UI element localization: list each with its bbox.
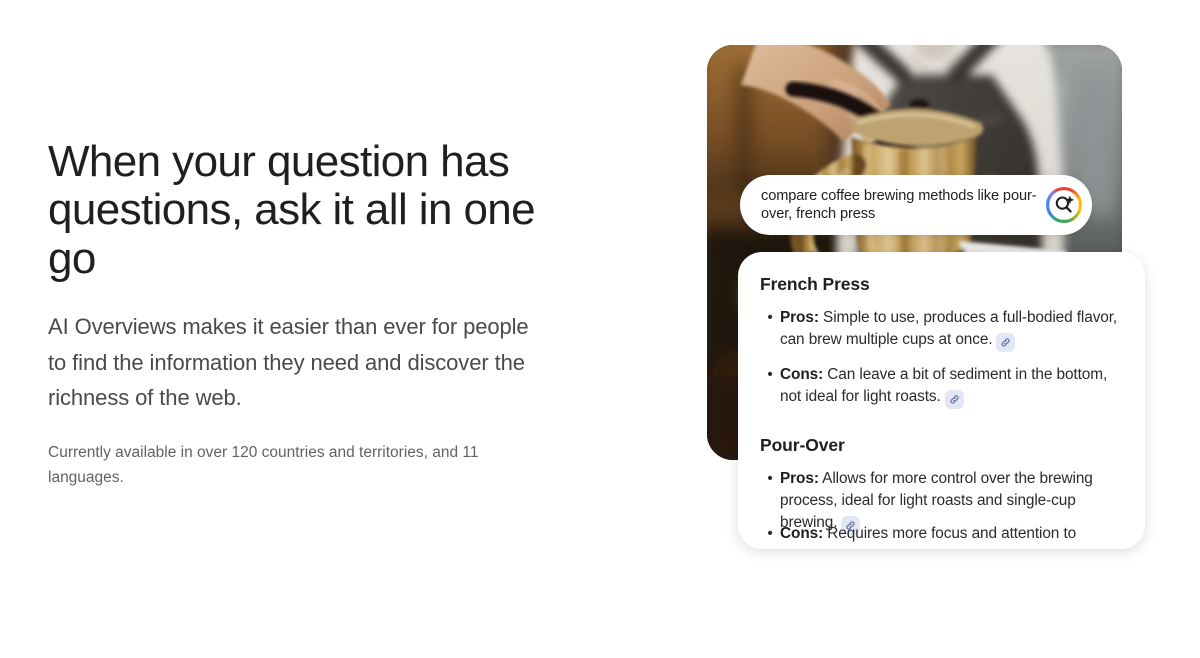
- link-chain-icon[interactable]: [996, 333, 1015, 352]
- bullet-text: Can leave a bit of sediment in the botto…: [780, 366, 1107, 405]
- result-section-title: Pour-Over: [760, 435, 1123, 457]
- bullet-lead-label: Cons:: [780, 525, 823, 542]
- ai-mode-search-sparkle-icon[interactable]: [1044, 185, 1084, 225]
- bullet-dot-icon: •: [760, 307, 780, 352]
- search-query-bubble[interactable]: compare coffee brewing methods like pour…: [740, 175, 1092, 235]
- marketing-copy-block: When your question has questions, ask it…: [48, 138, 608, 490]
- list-item: • Cons: Requires more focus and attentio…: [760, 523, 1123, 545]
- subheadline-text: AI Overviews makes it easier than ever f…: [48, 309, 548, 416]
- result-bullet-list: • Pros: Simple to use, produces a full-b…: [760, 307, 1123, 409]
- availability-note: Currently available in over 120 countrie…: [48, 440, 548, 490]
- page-root: When your question has questions, ask it…: [0, 0, 1200, 658]
- bullet-text: Simple to use, produces a full-bodied fl…: [780, 309, 1117, 348]
- bullet-text: Requires more focus and attention to: [827, 525, 1076, 542]
- list-item: • Cons: Can leave a bit of sediment in t…: [760, 364, 1123, 409]
- search-query-text: compare coffee brewing methods like pour…: [761, 187, 1044, 224]
- clipped-bullet-row: • Cons: Requires more focus and attentio…: [760, 523, 1123, 549]
- ai-overview-results-card: French Press • Pros: Simple to use, prod…: [738, 252, 1145, 549]
- result-section-title: French Press: [760, 274, 1123, 296]
- page-title: When your question has questions, ask it…: [48, 138, 568, 283]
- link-chain-icon[interactable]: [945, 390, 964, 409]
- list-item: • Pros: Simple to use, produces a full-b…: [760, 307, 1123, 352]
- bullet-lead-label: Pros:: [780, 309, 819, 326]
- bullet-dot-icon: •: [760, 364, 780, 409]
- bullet-lead-label: Pros:: [780, 470, 819, 487]
- bullet-lead-label: Cons:: [780, 366, 823, 383]
- ai-overview-mockup: compare coffee brewing methods like pour…: [690, 30, 1170, 590]
- bullet-dot-icon: •: [760, 523, 780, 545]
